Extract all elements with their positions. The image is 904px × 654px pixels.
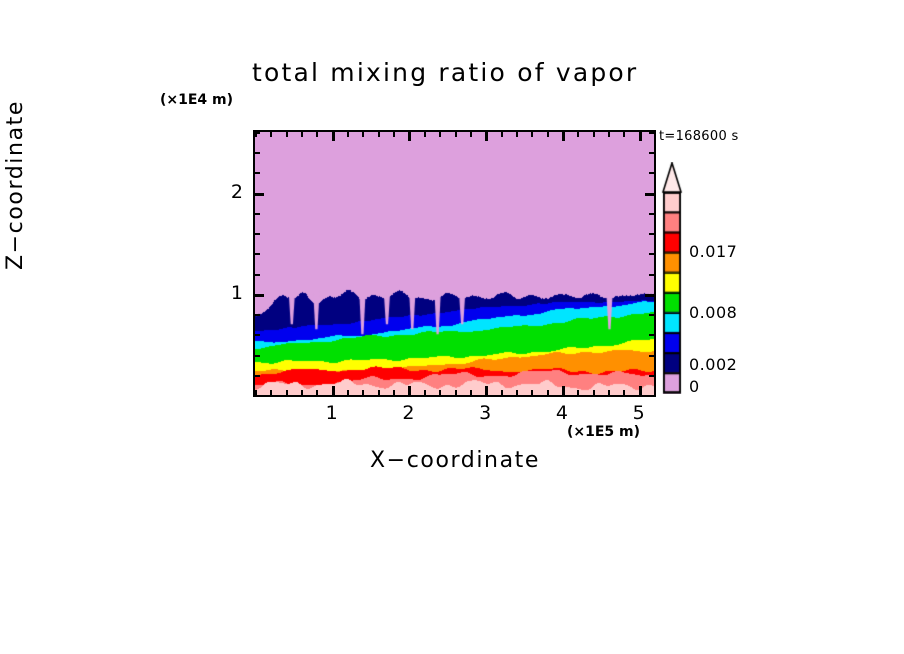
x-minor-tick [424, 390, 426, 395]
x-minor-tick [270, 390, 272, 395]
colorbar-canvas [661, 162, 685, 394]
y-minor-tick-right [649, 213, 654, 215]
x-major-tick [562, 386, 565, 395]
page-title: total mixing ratio of vapor [252, 58, 638, 87]
y-minor-tick-right [649, 233, 654, 235]
x-minor-tick-top [455, 132, 457, 137]
x-minor-tick-top [439, 132, 441, 137]
y-tick-label: 2 [213, 181, 243, 203]
y-minor-tick [255, 253, 260, 255]
x-minor-tick [608, 390, 610, 395]
x-minor-tick-top [547, 132, 549, 137]
y-major-tick [255, 193, 264, 196]
colorbar-tick-label: 0.017 [689, 242, 737, 261]
x-minor-tick [378, 390, 380, 395]
x-major-tick-top [562, 132, 565, 141]
contour-field-canvas [255, 132, 654, 395]
x-minor-tick-top [424, 132, 426, 137]
x-minor-tick [577, 390, 579, 395]
y-minor-tick [255, 334, 260, 336]
y-minor-tick [255, 213, 260, 215]
x-tick-label: 3 [470, 402, 500, 424]
x-tick-label: 5 [624, 402, 654, 424]
y-minor-tick [255, 152, 260, 154]
x-tick-label: 2 [393, 402, 423, 424]
x-minor-tick-top [347, 132, 349, 137]
x-minor-tick [501, 390, 503, 395]
y-minor-tick [255, 132, 260, 134]
time-annotation: t=168600 s [659, 129, 739, 144]
x-minor-tick [470, 390, 472, 395]
y-minor-tick-right [649, 253, 654, 255]
x-minor-tick [593, 390, 595, 395]
x-minor-tick-top [593, 132, 595, 137]
x-minor-tick [347, 390, 349, 395]
x-minor-tick-top [393, 132, 395, 137]
colorbar-tick-label: 0.002 [689, 355, 737, 374]
x-minor-tick [286, 390, 288, 395]
x-minor-tick [362, 390, 364, 395]
x-minor-tick [547, 390, 549, 395]
x-minor-tick-top [286, 132, 288, 137]
y-minor-tick [255, 233, 260, 235]
x-tick-label: 1 [317, 402, 347, 424]
x-major-tick [639, 386, 642, 395]
figure-root: total mixing ratio of vapor (×1E4 m) t=1… [0, 0, 904, 654]
x-minor-tick-top [501, 132, 503, 137]
y-axis-title: Z−coordinate [3, 75, 28, 295]
y-minor-tick-right [649, 375, 654, 377]
x-axis-title: X−coordinate [370, 448, 540, 473]
x-minor-tick [393, 390, 395, 395]
y-minor-tick-right [649, 132, 654, 134]
y-tick-label: 1 [213, 282, 243, 304]
x-major-tick-top [485, 132, 488, 141]
x-minor-tick [316, 390, 318, 395]
colorbar-tick-label: 0.008 [689, 303, 737, 322]
x-minor-tick [531, 390, 533, 395]
x-minor-tick-top [316, 132, 318, 137]
y-minor-tick-right [649, 395, 654, 397]
x-major-tick-top [332, 132, 335, 141]
x-major-tick-top [408, 132, 411, 141]
y-major-tick-right [645, 294, 654, 297]
y-minor-tick [255, 395, 260, 397]
y-major-tick-right [645, 193, 654, 196]
x-axis-unit-label: (×1E5 m) [567, 424, 640, 440]
y-minor-tick [255, 375, 260, 377]
x-minor-tick-top [516, 132, 518, 137]
y-minor-tick [255, 172, 260, 174]
x-major-tick [332, 386, 335, 395]
colorbar [661, 162, 685, 394]
z-axis-unit-label: (×1E4 m) [160, 92, 233, 108]
x-major-tick [408, 386, 411, 395]
x-minor-tick [301, 390, 303, 395]
x-major-tick [485, 386, 488, 395]
y-major-tick [255, 294, 264, 297]
x-minor-tick-top [362, 132, 364, 137]
x-minor-tick-top [301, 132, 303, 137]
x-minor-tick-top [531, 132, 533, 137]
x-minor-tick [516, 390, 518, 395]
plot-area [253, 130, 656, 397]
y-minor-tick [255, 274, 260, 276]
x-minor-tick-top [270, 132, 272, 137]
x-minor-tick-top [378, 132, 380, 137]
x-minor-tick [623, 390, 625, 395]
x-minor-tick-top [623, 132, 625, 137]
y-minor-tick-right [649, 314, 654, 316]
y-minor-tick-right [649, 334, 654, 336]
y-minor-tick-right [649, 355, 654, 357]
colorbar-tick-label: 0 [689, 377, 700, 396]
x-minor-tick-top [470, 132, 472, 137]
x-minor-tick [455, 390, 457, 395]
x-tick-label: 4 [547, 402, 577, 424]
x-minor-tick-top [608, 132, 610, 137]
y-minor-tick-right [649, 152, 654, 154]
x-minor-tick-top [577, 132, 579, 137]
y-minor-tick-right [649, 172, 654, 174]
y-minor-tick-right [649, 274, 654, 276]
y-minor-tick [255, 314, 260, 316]
x-major-tick-top [639, 132, 642, 141]
x-minor-tick [439, 390, 441, 395]
y-minor-tick [255, 355, 260, 357]
